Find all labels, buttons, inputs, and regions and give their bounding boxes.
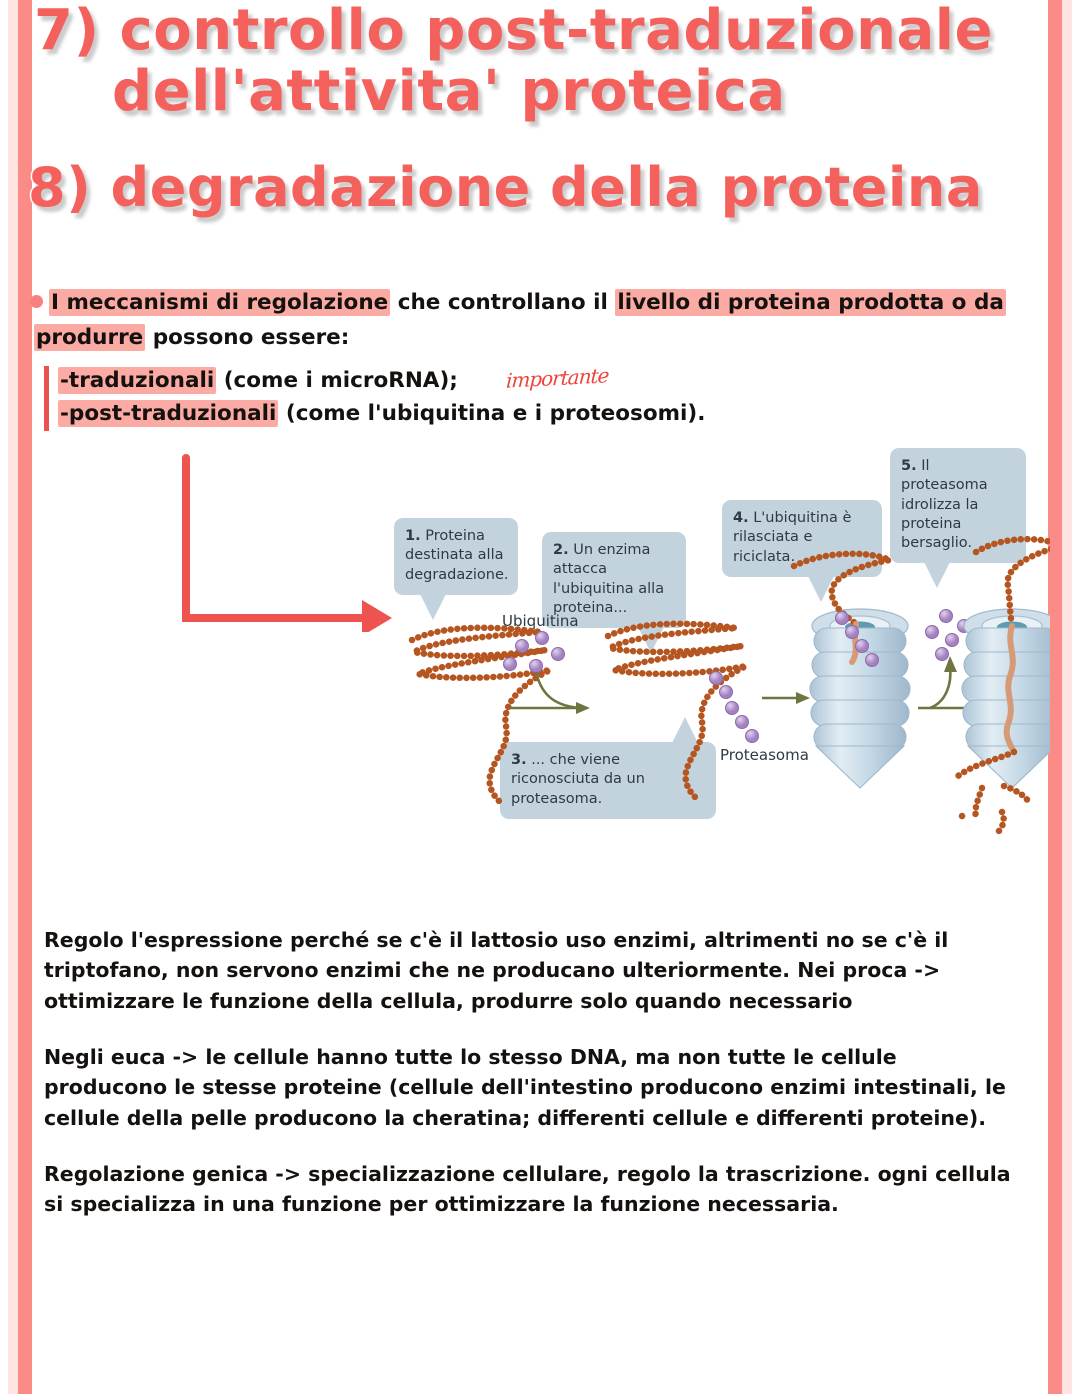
proteasome-1 — [810, 609, 910, 788]
list-item-1-plain: (come l'ubiquitina e i proteosomi). — [278, 401, 705, 426]
proteasome-2 — [962, 609, 1050, 788]
protein-chain-1 — [412, 628, 550, 802]
red-pointer-arrow — [180, 452, 400, 632]
intro-paragraph: I meccanismi di regolazione che controll… — [30, 288, 1020, 353]
page-title: 7) controllo post-traduzionale dell'atti… — [0, 4, 1080, 215]
note-paragraph-3: Regolazione genica -> specializzazione c… — [44, 1159, 1019, 1220]
note-paragraph-1: Regolo l'espressione perché se c'è il la… — [44, 925, 1019, 1016]
protein-chain-2 — [608, 624, 746, 798]
list-item-0-highlight: -traduzionali — [58, 367, 216, 394]
list-item-0-plain: (come i microRNA); — [216, 368, 458, 393]
list-item: -post-traduzionali (come l'ubiquitina e … — [58, 399, 1004, 430]
heading-line-3: 8) degradazione della proteina — [0, 162, 1080, 215]
ubiquitin-proteasome-diagram: 1. Proteina destinata alla degradazione.… — [390, 440, 1050, 840]
reaction-arrow-1 — [510, 672, 590, 714]
heading-line-1: 7) controllo post-traduzionale — [0, 4, 1080, 59]
intro-highlight-1: I meccanismi di regolazione — [49, 289, 390, 316]
ubiquitin-tag-chain — [710, 672, 759, 743]
intro-highlight-3: produrre — [34, 324, 145, 351]
intro-plain-2: possono essere: — [145, 325, 349, 350]
bullet-dot-icon — [30, 295, 43, 308]
list-item-1-highlight: -post-traduzionali — [58, 400, 278, 427]
diagram-graphics — [390, 440, 1050, 840]
ubiquitin-cluster-recycled — [926, 610, 971, 661]
heading-line-2: dell'attivita' proteica — [0, 65, 1080, 120]
bottom-notes: Regolo l'espressione perché se c'è il la… — [44, 925, 1019, 1220]
note-paragraph-2: Negli euca -> le cellule hanno tutte lo … — [44, 1042, 1019, 1133]
intro-highlight-2: livello di proteina prodotta o da — [615, 289, 1006, 316]
reaction-arrow-2 — [762, 692, 810, 704]
intro-line-1: I meccanismi di regolazione che controll… — [30, 288, 1020, 319]
intro-line-2: produrre possono essere: — [30, 323, 1020, 354]
intro-plain-1: che controllano il — [390, 290, 615, 315]
